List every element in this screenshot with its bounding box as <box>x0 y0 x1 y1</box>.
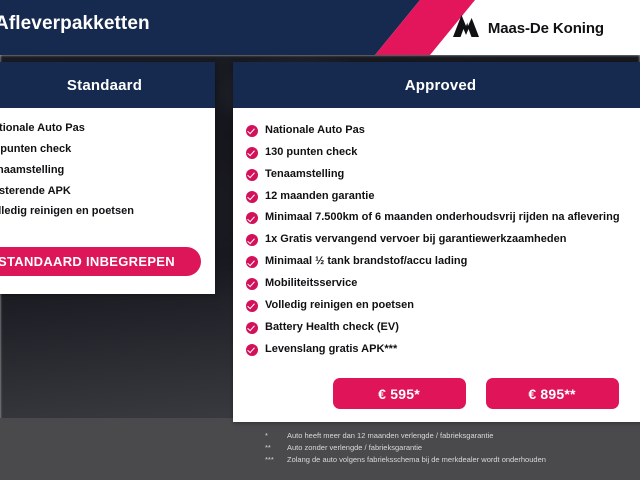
feature-label: 40 punten check <box>0 143 71 157</box>
package-card-standaard: Standaard Nationale Auto Pas 40 punten c… <box>0 62 215 294</box>
package-body-standaard: Nationale Auto Pas 40 punten check Tenaa… <box>0 108 215 219</box>
list-item: Battery Health check (EV) <box>246 321 640 335</box>
package-card-approved: Approved Nationale Auto Pas 130 punten c… <box>233 62 640 422</box>
feature-label: Nationale Auto Pas <box>265 124 365 138</box>
list-item: 1x Gratis vervangend vervoer bij garanti… <box>246 233 640 247</box>
brand-lockup: Maas-De Koning <box>453 15 604 42</box>
list-item: Volledig reinigen en poetsen <box>246 299 640 313</box>
price-button-row: € 595* € 895** <box>233 378 640 409</box>
brand-name: Maas-De Koning <box>488 20 604 37</box>
price-button-895[interactable]: € 895** <box>486 378 619 409</box>
check-circle-icon <box>246 256 258 268</box>
check-circle-icon <box>246 322 258 334</box>
footnote-row: ** Auto zonder verlengde / fabrieksgaran… <box>265 442 640 454</box>
check-circle-icon <box>246 300 258 312</box>
list-item: Volledig reinigen en poetsen <box>0 205 205 219</box>
list-item: Mobiliteitsservice <box>246 277 640 291</box>
check-circle-icon <box>246 344 258 356</box>
footnote-row: * Auto heeft meer dan 12 maanden verleng… <box>265 430 640 442</box>
footnote-text: Auto zonder verlengde / fabrieksgarantie <box>287 442 422 454</box>
feature-label: Tenaamstelling <box>0 164 64 178</box>
check-circle-icon <box>246 212 258 224</box>
standaard-included-badge[interactable]: STANDAARD INBEGREPEN <box>0 247 201 276</box>
maas-de-koning-m-logo-icon <box>453 15 479 42</box>
footnote-text: Auto heeft meer dan 12 maanden verlengde… <box>287 430 493 442</box>
feature-label: Tenaamstelling <box>265 168 344 182</box>
list-item: 12 maanden garantie <box>246 190 640 204</box>
feature-label: 12 maanden garantie <box>265 190 374 204</box>
package-header-approved: Approved <box>233 62 640 108</box>
footnote-marker: * <box>265 430 287 442</box>
feature-label: Nationale Auto Pas <box>0 122 85 136</box>
list-item: Minimaal 7.500km of 6 maanden onderhouds… <box>246 211 640 225</box>
check-circle-icon <box>246 191 258 203</box>
list-item: Nationale Auto Pas <box>0 122 205 136</box>
feature-label: Levenslang gratis APK*** <box>265 343 397 357</box>
check-circle-icon <box>246 278 258 290</box>
check-circle-icon <box>246 234 258 246</box>
list-item: Tenaamstelling <box>246 168 640 182</box>
list-item: Levenslang gratis APK*** <box>246 343 640 357</box>
list-item: 130 punten check <box>246 146 640 160</box>
feature-label: Resterende APK <box>0 185 71 199</box>
footnote-text: Zolang de auto volgens fabrieksschema bi… <box>287 454 546 466</box>
feature-label: 130 punten check <box>265 146 357 160</box>
list-item: Resterende APK <box>0 185 205 199</box>
check-circle-icon <box>246 169 258 181</box>
list-item: Minimaal ½ tank brandstof/accu lading <box>246 255 640 269</box>
check-circle-icon <box>246 125 258 137</box>
feature-list-standaard: Nationale Auto Pas 40 punten check Tenaa… <box>0 122 205 219</box>
feature-label: Minimaal ½ tank brandstof/accu lading <box>265 255 467 269</box>
feature-label: Mobiliteitsservice <box>265 277 357 291</box>
package-title-approved: Approved <box>405 77 477 94</box>
package-header-standaard: Standaard <box>0 62 215 108</box>
feature-label: Battery Health check (EV) <box>265 321 399 335</box>
package-title-standaard: Standaard <box>27 77 142 94</box>
feature-label: 1x Gratis vervangend vervoer bij garanti… <box>265 233 566 247</box>
list-item: Tenaamstelling <box>0 164 205 178</box>
feature-label: Volledig reinigen en poetsen <box>0 205 134 219</box>
page-root: Afleverpakketten Maas-De Koning Standaar… <box>0 0 640 480</box>
footnote-marker: *** <box>265 454 287 466</box>
package-body-approved: Nationale Auto Pas 130 punten check Tena… <box>233 108 640 356</box>
feature-label: Minimaal 7.500km of 6 maanden onderhouds… <box>265 211 620 225</box>
feature-list-approved: Nationale Auto Pas 130 punten check Tena… <box>246 124 640 356</box>
page-title: Afleverpakketten <box>0 13 150 35</box>
list-item: 40 punten check <box>0 143 205 157</box>
footnote-marker: ** <box>265 442 287 454</box>
footnote-row: *** Zolang de auto volgens fabrieksschem… <box>265 454 640 466</box>
footnotes: * Auto heeft meer dan 12 maanden verleng… <box>265 430 640 466</box>
price-button-595[interactable]: € 595* <box>333 378 466 409</box>
page-header: Afleverpakketten Maas-De Koning <box>0 0 640 55</box>
feature-label: Volledig reinigen en poetsen <box>265 299 414 313</box>
check-circle-icon <box>246 147 258 159</box>
list-item: Nationale Auto Pas <box>246 124 640 138</box>
